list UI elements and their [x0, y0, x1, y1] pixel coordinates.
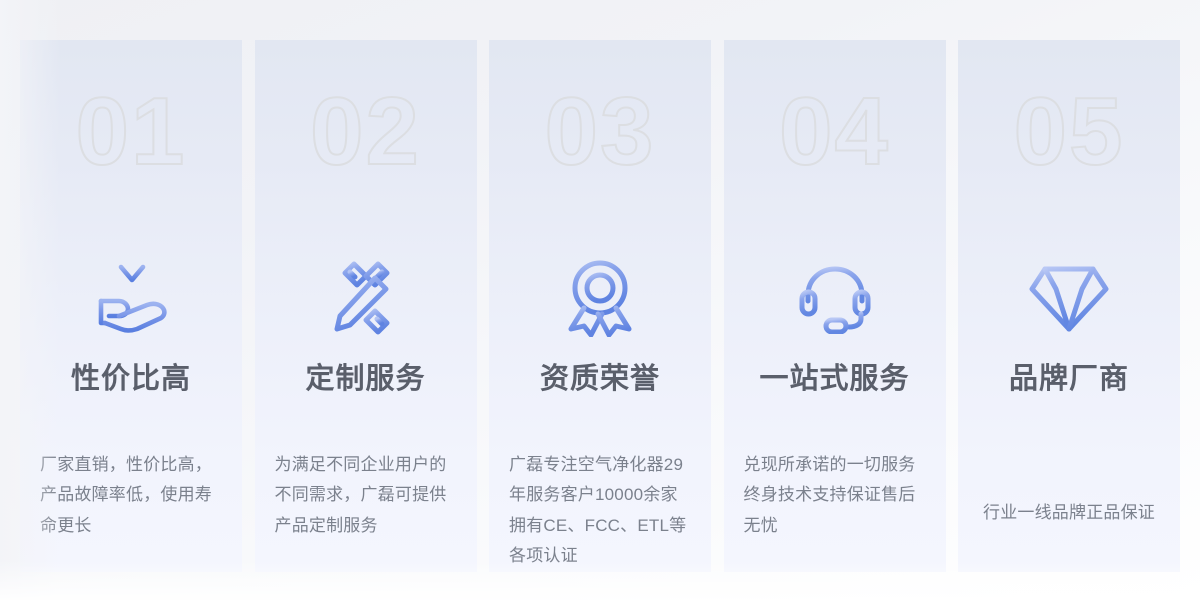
diamond-gem-icon: [958, 258, 1180, 338]
card-description: 行业一线品牌正品保证: [978, 498, 1160, 528]
card-description: 兑现所承诺的一切服务终身技术支持保证售后无忧: [744, 450, 926, 541]
card-number: 02: [255, 84, 477, 180]
pen-tool-customize-icon: [255, 258, 477, 338]
card-number: 01: [20, 84, 242, 180]
feature-card[interactable]: 05: [958, 40, 1180, 572]
card-title: 品牌厂商: [958, 362, 1180, 397]
feature-card[interactable]: 03: [489, 40, 711, 572]
feature-card[interactable]: 02: [255, 40, 477, 572]
feature-card[interactable]: 04: [724, 40, 946, 572]
card-title: 定制服务: [255, 362, 477, 397]
features-section: 01: [0, 0, 1200, 600]
card-description: 为满足不同企业用户的不同需求，广磊可提供产品定制服务: [275, 450, 457, 541]
hand-holding-money-icon: [20, 258, 242, 338]
feature-card-list: 01: [20, 40, 1180, 572]
card-number: 03: [489, 84, 711, 180]
card-number: 05: [958, 84, 1180, 180]
card-description: 厂家直销，性价比高，产品故障率低，使用寿命更长: [40, 450, 222, 541]
headset-support-icon: [724, 258, 946, 338]
card-title: 一站式服务: [724, 362, 946, 397]
feature-card[interactable]: 01: [20, 40, 242, 572]
card-title: 资质荣誉: [489, 362, 711, 397]
award-ribbon-icon: [489, 258, 711, 338]
card-title: 性价比高: [20, 362, 242, 397]
card-number: 04: [724, 84, 946, 180]
card-description: 广磊专注空气净化器29年服务客户10000余家拥有CE、FCC、ETL等各项认证: [509, 450, 691, 571]
